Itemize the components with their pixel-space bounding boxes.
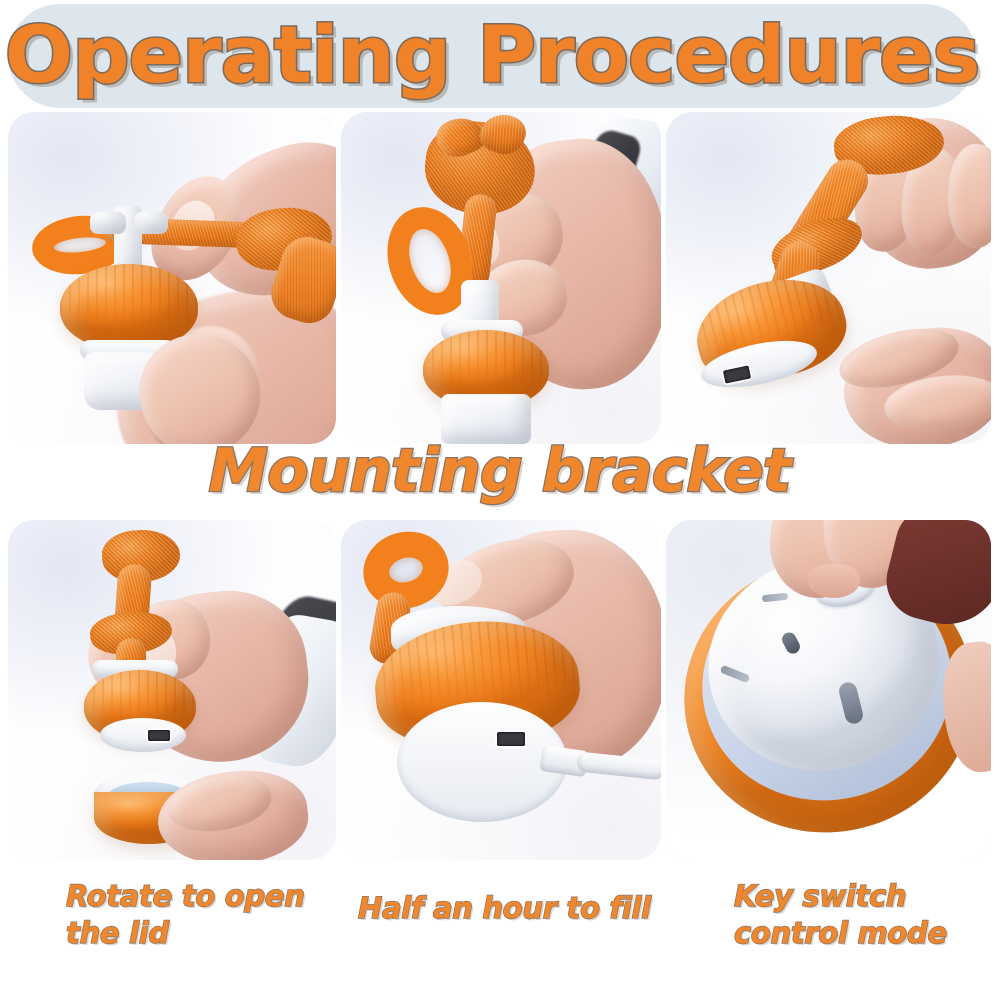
usb-port-icon bbox=[497, 732, 525, 746]
step-photo-1 bbox=[8, 112, 336, 444]
step-photo-2 bbox=[341, 112, 661, 444]
step-photo-3 bbox=[666, 112, 991, 444]
title-banner: Operating Procedures bbox=[8, 4, 976, 108]
usb-port-icon bbox=[148, 730, 170, 741]
caption-key-switch: Key switch control mode bbox=[734, 878, 984, 952]
infographic-sheet: Operating Procedures bbox=[0, 0, 999, 988]
caption-rotate-to-open: Rotate to open the lid bbox=[66, 878, 336, 952]
middle-label: Mounting bracket bbox=[0, 436, 999, 506]
caption-half-hour-fill: Half an hour to fill bbox=[358, 890, 658, 927]
device-base-ring bbox=[100, 718, 186, 752]
middle-label-text: Mounting bracket bbox=[209, 436, 791, 506]
step-photo-5 bbox=[341, 520, 661, 860]
bracket-arm-left bbox=[90, 212, 126, 234]
fingertip bbox=[808, 564, 860, 598]
step-photo-4 bbox=[8, 520, 336, 860]
page-title: Operating Procedures bbox=[5, 17, 980, 95]
step-photo-6 bbox=[666, 520, 991, 860]
device-base bbox=[441, 394, 531, 444]
bracket-arm-right bbox=[134, 212, 168, 234]
